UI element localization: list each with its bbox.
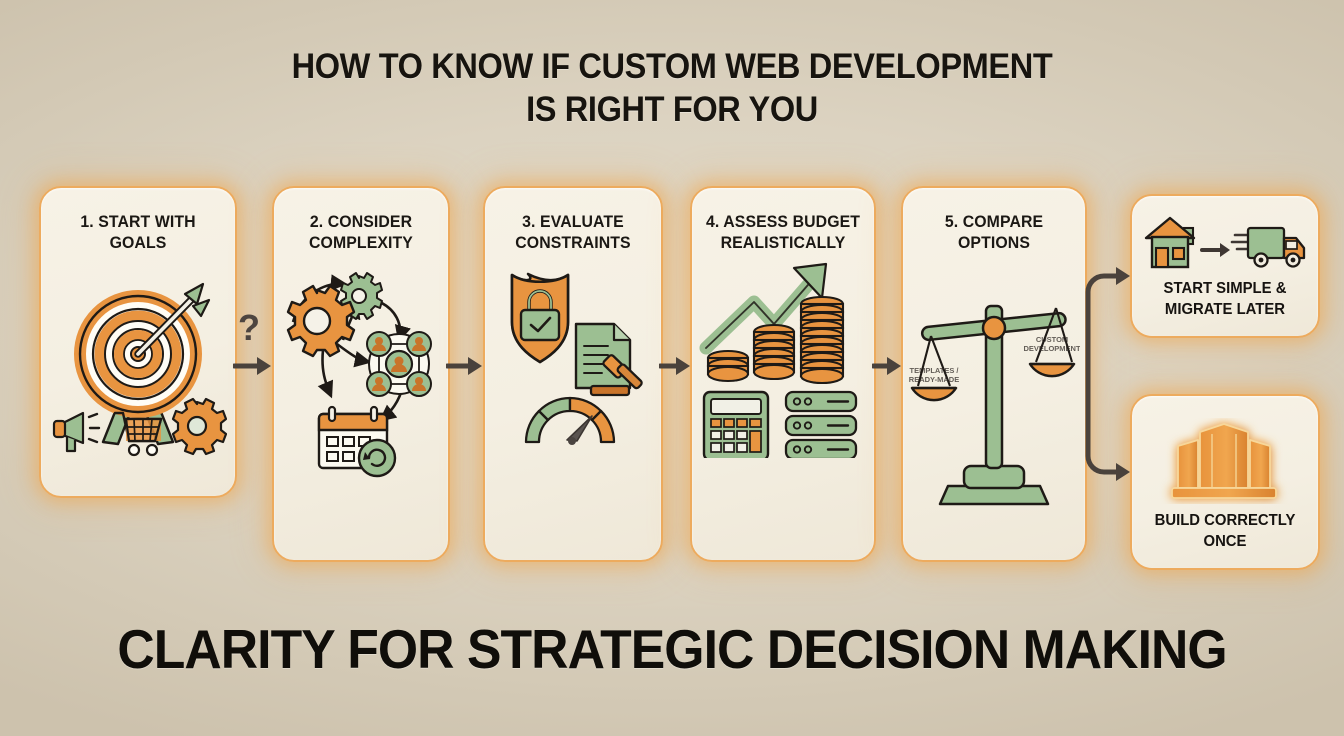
document-gavel-icon: [576, 324, 643, 395]
step-card-3-title-line-1: 3. EVALUATE: [522, 213, 624, 231]
house-icon: [1146, 218, 1194, 267]
moving-truck-icon: [1232, 228, 1304, 267]
step-card-3[interactable]: 3. EVALUATE CONSTRAINTS: [483, 186, 663, 562]
step-card-2-title: 2. CONSIDER COMPLEXITY: [285, 212, 437, 255]
svg-text:DEVELOPMENT: DEVELOPMENT: [1023, 344, 1080, 353]
step-card-5-title: 5. COMPARE OPTIONS: [914, 212, 1073, 255]
step-card-4-title-line-1: 4. ASSESS BUDGET: [706, 213, 860, 231]
step-card-4-title: 4. ASSESS BUDGET REALISTICALLY: [703, 212, 862, 255]
outcome-card-b-artwork: [1132, 418, 1318, 504]
page-title: HOW TO KNOW IF CUSTOM WEB DEVELOPMENT IS…: [47, 46, 1297, 131]
connector-arrow-3-4: [659, 352, 693, 380]
outcome-card-a-title-line-2: MIGRATE LATER: [1165, 301, 1285, 318]
page-footer-title: CLARITY FOR STRATEGIC DECISION MAKING: [40, 617, 1303, 681]
step-card-5[interactable]: 5. COMPARE OPTIONS: [901, 186, 1087, 562]
outcome-card-a-title: START SIMPLE & MIGRATE LATER: [1141, 279, 1308, 320]
connector-arrow-1-2: [233, 352, 275, 380]
team-network-icon: [367, 332, 431, 396]
page-title-line-1: HOW TO KNOW IF CUSTOM WEB DEVELOPMENT: [47, 46, 1297, 89]
step-card-5-artwork: TEMPLATES / READY-MADE CUSTOM DEVELOPMEN…: [903, 270, 1085, 530]
step-card-3-title-line-2: CONSTRAINTS: [515, 234, 630, 252]
step-card-1-title: 1. START WITH GOALS: [53, 212, 224, 255]
step-card-2[interactable]: 2. CONSIDER COMPLEXITY: [272, 186, 450, 562]
outcome-card-start-simple[interactable]: START SIMPLE & MIGRATE LATER: [1130, 194, 1320, 338]
balance-scale-icon: TEMPLATES / READY-MADE CUSTOM DEVELOPMEN…: [908, 270, 1080, 530]
step-card-5-title-line-2: OPTIONS: [958, 234, 1030, 252]
svg-text:READY-MADE: READY-MADE: [909, 375, 959, 384]
connector-arrow-2-3: [446, 352, 486, 380]
outcome-card-a-artwork: [1132, 210, 1318, 276]
step-card-1-title-line-2: GOALS: [110, 234, 167, 252]
step-card-1-icon-row: [41, 397, 235, 459]
step-card-4-artwork: [692, 258, 874, 458]
calculator-icon: [704, 392, 768, 458]
infographic-canvas: HOW TO KNOW IF CUSTOM WEB DEVELOPMENT IS…: [0, 0, 1344, 736]
outcome-card-b-title: BUILD CORRECTLY ONCE: [1141, 511, 1308, 552]
svg-text:CUSTOM: CUSTOM: [1036, 335, 1068, 344]
step-card-1-title-line-1: 1. START WITH: [80, 213, 195, 231]
step-card-2-title-line-2: COMPLEXITY: [309, 234, 413, 252]
shield-lock-icon: [512, 274, 568, 362]
outcome-card-a-title-line-1: START SIMPLE &: [1164, 280, 1287, 297]
step-card-2-artwork: [274, 260, 448, 480]
outcome-card-b-title-line-2: ONCE: [1203, 533, 1246, 550]
step-card-2-title-line-1: 2. CONSIDER: [310, 213, 412, 231]
connector-arrow-4-5: [872, 352, 904, 380]
step-card-1[interactable]: 1. START WITH GOALS: [39, 186, 237, 498]
question-mark-annotation: ?: [238, 310, 260, 346]
gauge-icon: [526, 398, 614, 445]
step-card-3-title: 3. EVALUATE CONSTRAINTS: [496, 212, 650, 255]
connector-branch-to-outcomes: [1080, 246, 1136, 496]
growth-arrow-coins-icon: [706, 264, 843, 383]
gear-icon: [288, 286, 354, 356]
step-card-5-title-line-1: 5. COMPARE: [945, 213, 1043, 231]
arrow-right-icon: [1202, 243, 1230, 257]
outcome-card-b-title-line-1: BUILD CORRECTLY: [1155, 512, 1296, 529]
step-card-4[interactable]: 4. ASSESS BUDGET REALISTICALLY: [690, 186, 876, 562]
gear-icon: [173, 399, 226, 454]
svg-text:TEMPLATES /: TEMPLATES /: [909, 366, 959, 375]
megaphone-icon: [54, 413, 99, 451]
step-card-3-artwork: [485, 260, 661, 460]
shopping-cart-icon: [115, 413, 161, 455]
server-stack-icon: [786, 392, 856, 458]
calendar-refresh-icon: [319, 407, 395, 476]
building-icon: [1150, 418, 1300, 504]
outcome-card-build-once[interactable]: BUILD CORRECTLY ONCE: [1130, 394, 1320, 570]
step-card-4-title-line-2: REALISTICALLY: [721, 234, 846, 252]
page-title-line-2: IS RIGHT FOR YOU: [47, 89, 1297, 132]
